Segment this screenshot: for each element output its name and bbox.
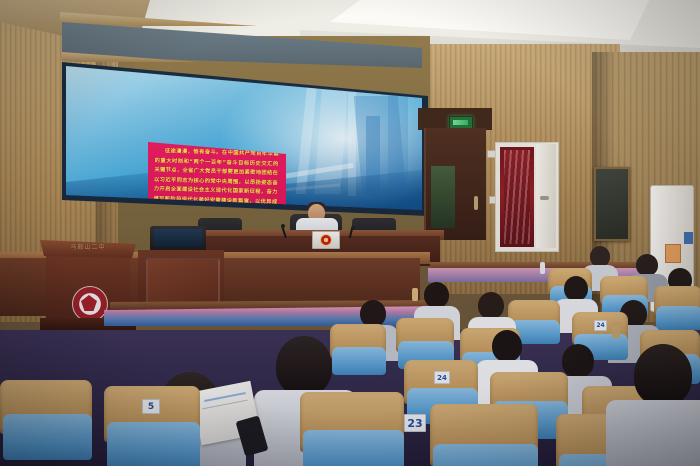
water-bottle (540, 262, 545, 274)
drink-cup (612, 322, 620, 338)
seat-number-plaque: 5 (142, 399, 160, 414)
white-door-handle[interactable] (540, 196, 549, 200)
air-conditioner-badge (684, 232, 693, 244)
door-handle[interactable] (474, 196, 478, 210)
laptop-emblem-icon (320, 234, 332, 246)
podium-monitor-screen (154, 229, 202, 247)
seat-number-plaque: 24 (594, 320, 607, 331)
podium-name-plate: 马鞍山二中 (52, 243, 124, 253)
wall-framed-panel (594, 167, 630, 241)
microphone-head (351, 226, 355, 230)
drink-cup (412, 288, 418, 301)
door-glass-panel (431, 166, 455, 228)
red-curtain (504, 150, 530, 244)
air-conditioner-grille (653, 188, 689, 218)
seat-number-plaque: 24 (434, 371, 450, 384)
air-conditioner-label (665, 244, 681, 263)
conference-hall-photo: 征途漫漫，惟有奋斗。在中国共产党百年华诞的重大时刻和“两个一百年”奋斗目标历史交… (0, 0, 700, 466)
seat-number-plaque: 23 (404, 414, 426, 432)
podium-name-plate-text: 马鞍山二中 (52, 243, 124, 253)
microphone-head (281, 224, 285, 228)
